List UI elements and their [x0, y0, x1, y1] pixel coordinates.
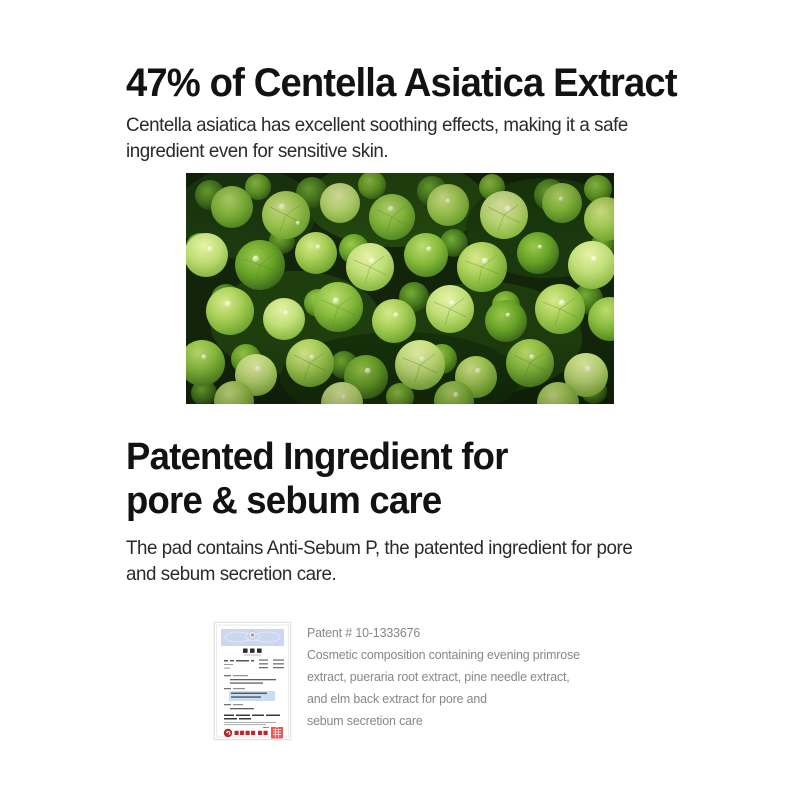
- patent-title-line-3: and elm back extract for pore and: [307, 689, 580, 711]
- korean-patent-certificate-thumbnail: [214, 622, 291, 740]
- patent-title-line-1: Cosmetic composition containing evening …: [307, 645, 580, 667]
- patent-title-line-2: extract, pueraria root extract, pine nee…: [307, 667, 580, 689]
- patented-ingredient-section: Patented Ingredient for pore & sebum car…: [126, 435, 706, 588]
- patented-ingredient-description: The pad contains Anti-Sebum P, the paten…: [126, 536, 665, 588]
- patent-block: Patent # 10-1333676 Cosmetic composition…: [214, 622, 584, 740]
- centella-asiatica-leaves-photo: [186, 173, 614, 404]
- section-title-line-1: Patented Ingredient for: [126, 435, 683, 479]
- section-title: Patented Ingredient for pore & sebum car…: [126, 435, 683, 523]
- centella-description: Centella asiatica has excellent soothing…: [126, 113, 665, 165]
- product-detail-page: 47% of Centella Asiatica Extract Centell…: [0, 0, 800, 800]
- patent-number: Patent # 10-1333676: [307, 623, 580, 645]
- patent-caption: Patent # 10-1333676 Cosmetic composition…: [307, 622, 580, 733]
- centella-section: 47% of Centella Asiatica Extract Centell…: [126, 62, 706, 165]
- patent-title-line-4: sebum secretion care: [307, 711, 580, 733]
- section-title-line-2: pore & sebum care: [126, 479, 683, 523]
- page-title: 47% of Centella Asiatica Extract: [126, 62, 680, 104]
